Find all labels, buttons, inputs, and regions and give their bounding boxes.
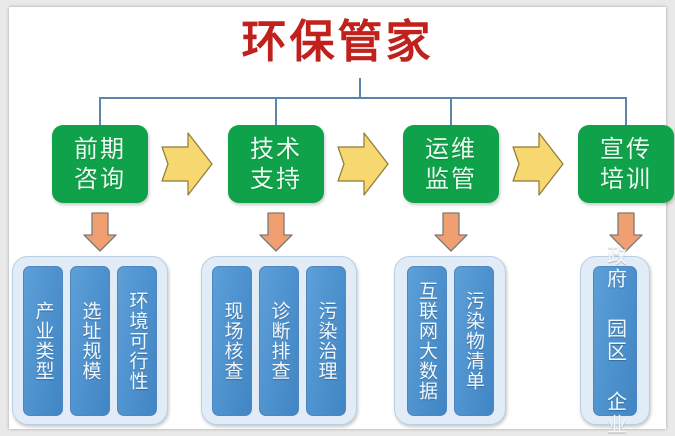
connector-drop-4: [625, 97, 627, 126]
detail-chip-4-1[interactable]: 政府 园区 企业: [593, 266, 637, 416]
detail-group-3: 互联网大数据 污染物清单: [394, 256, 506, 425]
detail-chip-3-1[interactable]: 互联网大数据: [407, 266, 447, 416]
stage-label-1-line2: 咨询: [74, 164, 126, 194]
detail-group-4: 政府 园区 企业: [580, 256, 650, 425]
detail-chip-1-3[interactable]: 环境可行性: [117, 266, 157, 416]
down-arrow-icon-3: [433, 211, 469, 253]
stage-label-1-line1: 前期: [74, 134, 126, 164]
page-title: 环保管家: [0, 14, 675, 70]
detail-chip-label: 环境可行性: [127, 291, 148, 391]
detail-group-1: 产业类型 选址规模 环境可行性: [12, 256, 168, 425]
diagram-canvas: 环保管家 前期 咨询 技术 支持 运维 监管 宣传 培训: [0, 0, 675, 436]
connector-drop-3: [450, 97, 452, 126]
stage-label-2-line1: 技术: [250, 134, 302, 164]
detail-chip-2-1[interactable]: 现场核查: [212, 266, 252, 416]
detail-chip-label: 互联网大数据: [416, 281, 437, 401]
detail-chip-3-2[interactable]: 污染物清单: [454, 266, 494, 416]
connector-drop-1: [99, 97, 101, 126]
detail-chip-2-2[interactable]: 诊断排查: [259, 266, 299, 416]
down-arrow-icon-1: [82, 211, 118, 253]
detail-chip-label: 诊断排查: [269, 301, 290, 381]
stage-box-2[interactable]: 技术 支持: [228, 125, 324, 203]
connector-stem: [359, 78, 361, 98]
detail-chip-label: 政府 园区 企业: [605, 245, 626, 436]
detail-chip-label: 选址规模: [80, 301, 101, 381]
stage-box-1[interactable]: 前期 咨询: [52, 125, 148, 203]
flow-arrow-right-icon-1: [160, 131, 214, 197]
down-arrow-icon-2: [258, 211, 294, 253]
flow-arrow-right-icon-2: [336, 131, 390, 197]
detail-chip-label: 污染物清单: [463, 291, 484, 391]
stage-label-4-line1: 宣传: [600, 134, 652, 164]
detail-chip-2-3[interactable]: 污染治理: [306, 266, 346, 416]
stage-label-4-line2: 培训: [600, 164, 652, 194]
connector-bar: [99, 97, 627, 99]
flow-arrow-right-icon-3: [511, 131, 565, 197]
stage-label-3-line2: 监管: [425, 164, 477, 194]
stage-box-3[interactable]: 运维 监管: [403, 125, 499, 203]
stage-box-4[interactable]: 宣传 培训: [578, 125, 674, 203]
detail-chip-label: 现场核查: [222, 301, 243, 381]
detail-chip-1-2[interactable]: 选址规模: [70, 266, 110, 416]
connector-drop-2: [275, 97, 277, 126]
detail-chip-label: 产业类型: [33, 301, 54, 381]
stage-label-2-line2: 支持: [250, 164, 302, 194]
detail-chip-label: 污染治理: [316, 301, 337, 381]
detail-chip-1-1[interactable]: 产业类型: [23, 266, 63, 416]
detail-group-2: 现场核查 诊断排查 污染治理: [201, 256, 357, 425]
stage-label-3-line1: 运维: [425, 134, 477, 164]
